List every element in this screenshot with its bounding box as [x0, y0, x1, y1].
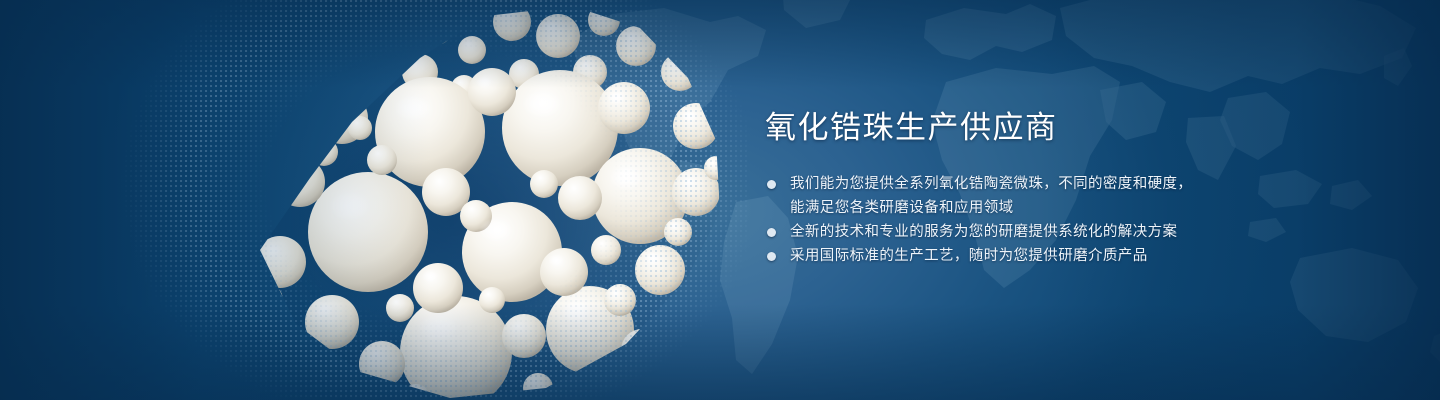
bullet-dot-icon [767, 228, 776, 237]
bullet-dot-icon [767, 252, 776, 261]
banner-copy-block: 氧化锆珠生产供应商 我们能为您提供全系列氧化锆陶瓷微珠，不同的密度和硬度， 能满… [765, 108, 1385, 268]
banner-feature-list: 我们能为您提供全系列氧化锆陶瓷微珠，不同的密度和硬度， 能满足您各类研磨设备和应… [765, 172, 1385, 268]
feature-text-line: 我们能为您提供全系列氧化锆陶瓷微珠，不同的密度和硬度， [790, 172, 1385, 196]
feature-text-line: 全新的技术和专业的服务为您的研磨提供系统化的解决方案 [790, 220, 1385, 244]
banner-headline: 氧化锆珠生产供应商 [765, 108, 1385, 148]
feature-list-item: 采用国际标准的生产工艺，随时为您提供研磨介质产品 [765, 244, 1385, 268]
feature-list-item: 我们能为您提供全系列氧化锆陶瓷微珠，不同的密度和硬度， 能满足您各类研磨设备和应… [765, 172, 1385, 220]
bullet-dot-icon [767, 180, 776, 189]
feature-text-line: 能满足您各类研磨设备和应用领域 [790, 196, 1385, 220]
hero-banner: 氧化锆珠生产供应商 我们能为您提供全系列氧化锆陶瓷微珠，不同的密度和硬度， 能满… [0, 0, 1440, 400]
feature-list-item: 全新的技术和专业的服务为您的研磨提供系统化的解决方案 [765, 220, 1385, 244]
feature-text-line: 采用国际标准的生产工艺，随时为您提供研磨介质产品 [790, 244, 1385, 268]
